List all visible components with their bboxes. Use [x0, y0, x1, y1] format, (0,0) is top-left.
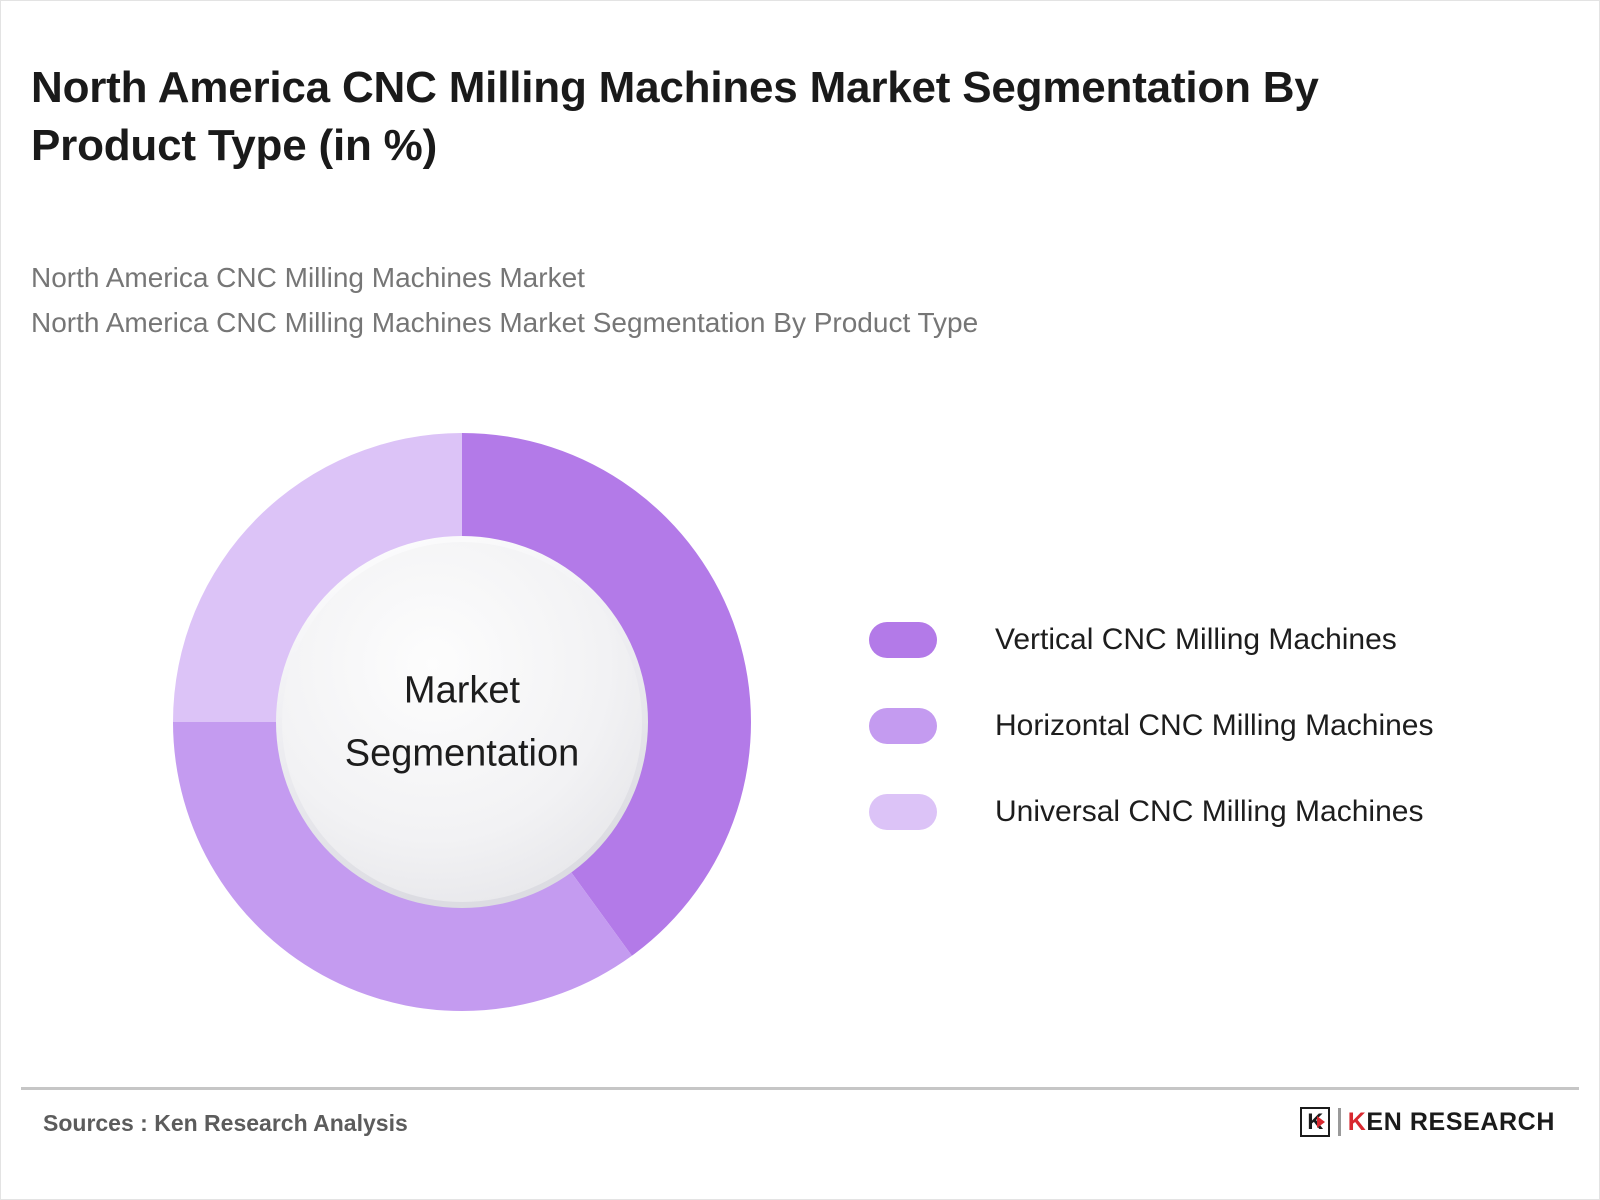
- legend-swatch-icon: [869, 708, 937, 744]
- legend-swatch-icon: [869, 794, 937, 830]
- page-title: North America CNC Milling Machines Marke…: [31, 59, 1491, 175]
- legend-label: Vertical CNC Milling Machines: [995, 623, 1397, 657]
- brand-name-rest: EN RESEARCH: [1366, 1108, 1555, 1136]
- source-note: Sources : Ken Research Analysis: [43, 1110, 408, 1137]
- subtitle-block: North America CNC Milling Machines Marke…: [31, 256, 1491, 346]
- brand-divider: [1338, 1108, 1341, 1136]
- brand-name: KEN RESEARCH: [1348, 1108, 1555, 1137]
- legend-item-universal[interactable]: Universal CNC Milling Machines: [869, 769, 1529, 855]
- chart-slide: North America CNC Milling Machines Marke…: [0, 0, 1600, 1200]
- legend-item-horizontal[interactable]: Horizontal CNC Milling Machines: [869, 683, 1529, 769]
- donut-chart: Market Segmentation: [173, 433, 751, 1011]
- donut-hole: [282, 542, 642, 902]
- footer-divider: [21, 1087, 1579, 1090]
- subtitle-line-1: North America CNC Milling Machines Marke…: [31, 256, 1491, 301]
- chart-legend: Vertical CNC Milling Machines Horizontal…: [869, 597, 1529, 855]
- donut-svg: [173, 433, 751, 1011]
- legend-label: Universal CNC Milling Machines: [995, 795, 1423, 829]
- brand-mark-triangle-icon: [1317, 1116, 1325, 1128]
- subtitle-line-2: North America CNC Milling Machines Marke…: [31, 301, 1491, 346]
- brand-mark-icon: K: [1300, 1107, 1330, 1137]
- legend-label: Horizontal CNC Milling Machines: [995, 709, 1433, 743]
- header: North America CNC Milling Machines Marke…: [31, 59, 1511, 175]
- chart-area: Market Segmentation Vertical CNC Milling…: [1, 401, 1600, 1041]
- brand-name-prefix: K: [1348, 1108, 1367, 1136]
- legend-item-vertical[interactable]: Vertical CNC Milling Machines: [869, 597, 1529, 683]
- brand-logo: K KEN RESEARCH: [1300, 1105, 1555, 1139]
- legend-swatch-icon: [869, 622, 937, 658]
